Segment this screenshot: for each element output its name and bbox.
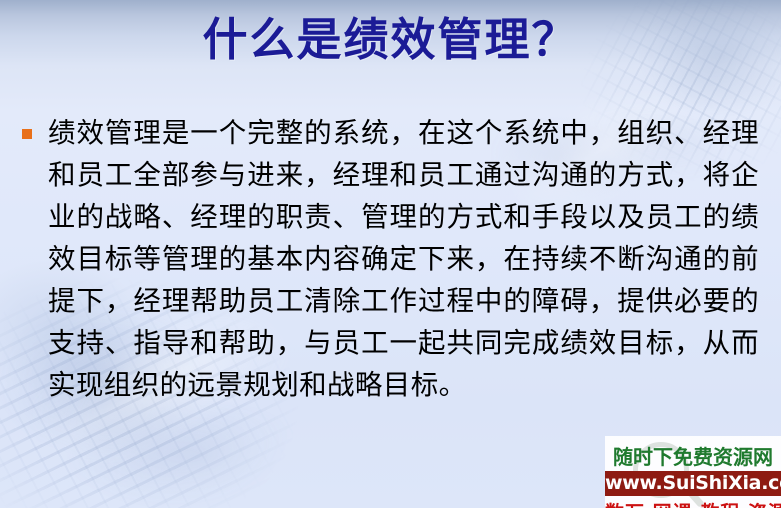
- watermark-site-name: 随时下免费资源网: [605, 441, 781, 470]
- square-bullet-icon: [22, 129, 32, 139]
- watermark-badge: 随时下免费资源网 www.SuiShiXia.com 数万 网课 教程 资源: [605, 436, 781, 508]
- presentation-slide: 什么是绩效管理？ 绩效管理是一个完整的系统，在这个系统中，组织、经理和员工全部参…: [0, 0, 781, 508]
- watermark-url: www.SuiShiXia.com: [605, 471, 781, 496]
- slide-body: 绩效管理是一个完整的系统，在这个系统中，组织、经理和员工全部参与进来，经理和员工…: [22, 112, 759, 406]
- watermark-tagline: 数万 网课 教程 资源: [605, 498, 781, 508]
- bullet-paragraph: 绩效管理是一个完整的系统，在这个系统中，组织、经理和员工全部参与进来，经理和员工…: [48, 112, 759, 406]
- slide-title: 什么是绩效管理？: [0, 14, 781, 66]
